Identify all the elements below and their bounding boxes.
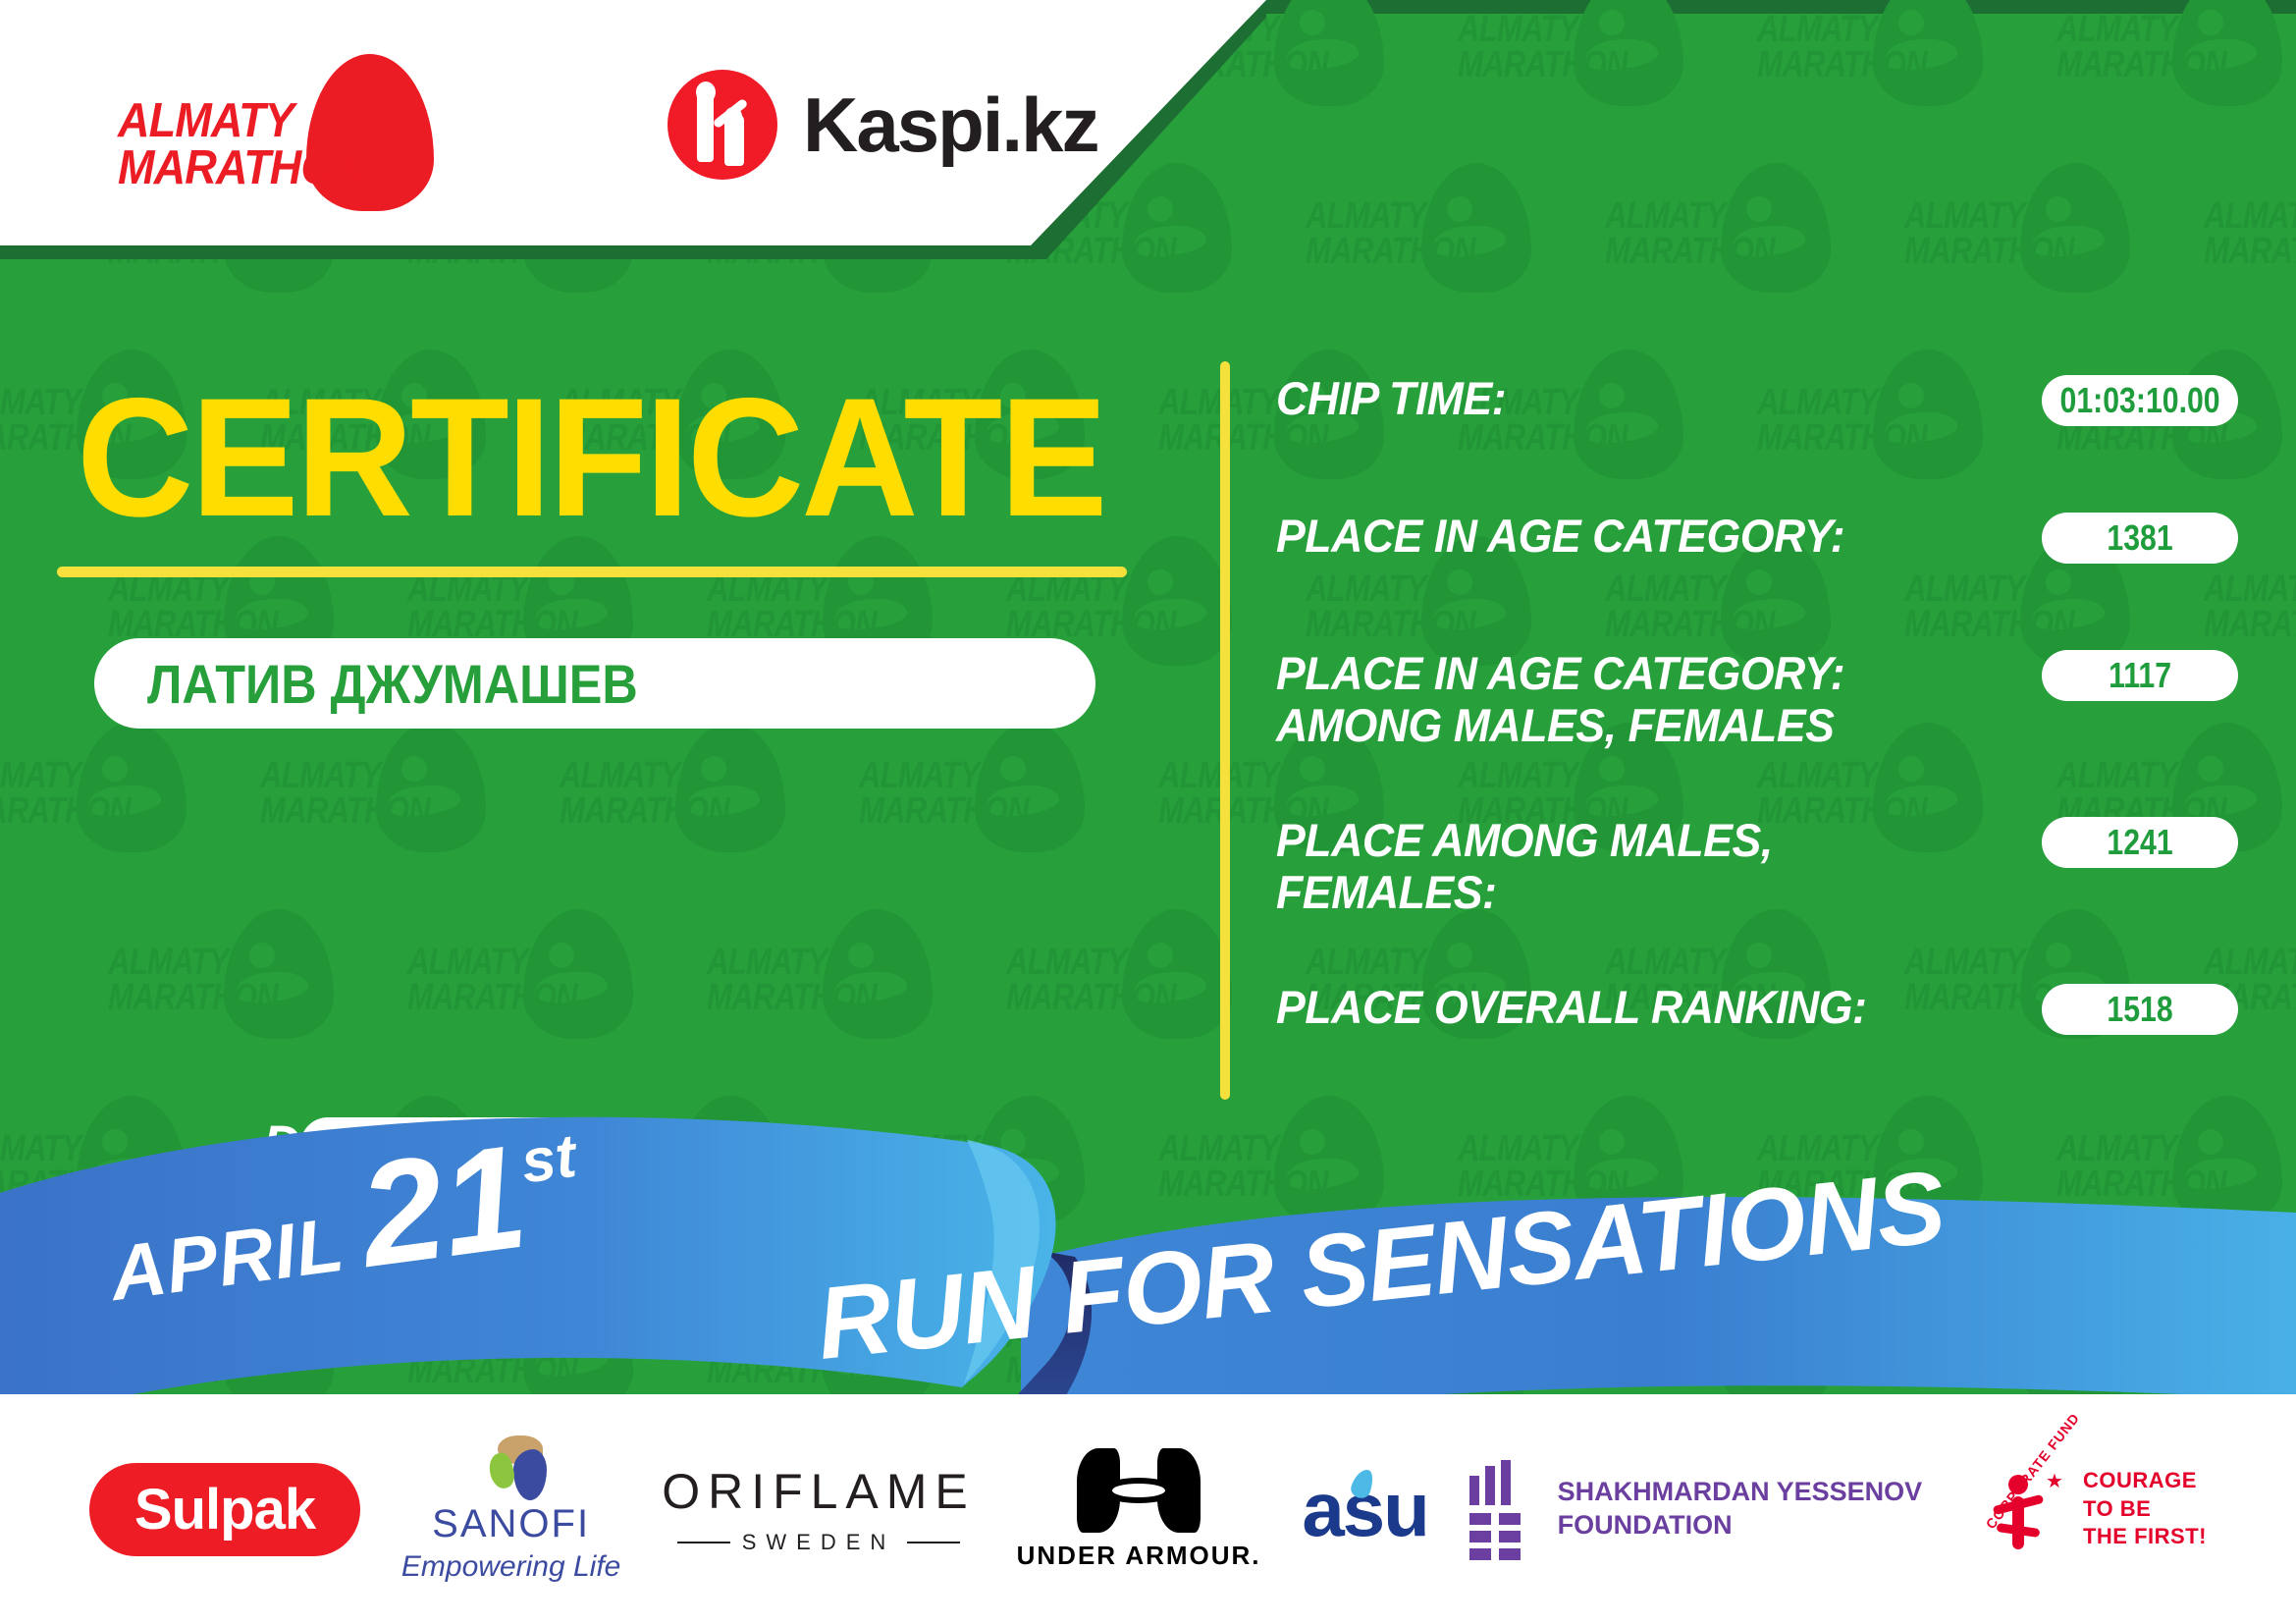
watermark-tile: ALMATYMARATHON: [2056, 344, 2296, 520]
watermark-text: ALMATYMARATHON: [108, 945, 278, 1015]
watermark-text: ALMATYMARATHON: [407, 571, 577, 642]
courage-wordmark: COURAGE TO BE THE FIRST!: [2083, 1467, 2207, 1551]
sponsor-strip: Sulpak SANOFI Empowering Life ORIFLAME S…: [0, 1394, 2296, 1624]
result-row-place-age-category: PLACE IN AGE CATEGORY: 1381: [1276, 511, 2238, 564]
watermark-teardrop-icon: [823, 909, 933, 1039]
watermark-tile: ALMATYMARATHON: [560, 717, 844, 893]
sponsor-oriflame: ORIFLAME SWEDEN: [662, 1440, 976, 1578]
watermark-teardrop-icon: [224, 909, 334, 1039]
kaspi-logo: Kaspi.kz: [667, 61, 1080, 189]
watermark-tile: ALMATYMARATHON: [1306, 157, 1590, 334]
watermark-tile: ALMATYMARATHON: [260, 717, 545, 893]
result-row-place-overall: PLACE OVERALL RANKING: 1518: [1276, 982, 2238, 1035]
watermark-tile: ALMATYMARATHON: [1458, 0, 1742, 147]
watermark-tile: ALMATYMARATHON: [1006, 903, 1291, 1080]
watermark-text: ALMATYMARATHON: [1306, 571, 1475, 642]
almaty-marathon-wordmark: ALMATY MARATHON: [118, 97, 365, 191]
watermark-teardrop-icon: [1122, 909, 1232, 1039]
courage-line-2: TO BE: [2083, 1495, 2207, 1524]
watermark-tile: ALMATYMARATHON: [1158, 344, 1443, 520]
sponsor-under-armour: UNDER ARMOUR.: [1017, 1440, 1261, 1578]
sponsor-yessenov-foundation: SHAKHMARDAN YESSENOV FOUNDATION: [1469, 1440, 1923, 1578]
event-month: APRIL: [105, 1200, 349, 1319]
watermark-text: ALMATYMARATHON: [407, 945, 577, 1015]
result-row-place-among-gender: PLACE AMONG MALES, FEMALES: 1241: [1276, 815, 2238, 918]
result-label: PLACE IN AGE CATEGORY:: [1276, 511, 2003, 563]
watermark-text: ALMATYMARATHON: [1904, 571, 2074, 642]
watermark-text: ALMATYMARATHON: [1904, 198, 2074, 269]
watermark-teardrop-icon: [77, 723, 187, 852]
participant-name-field: ЛАТИВ ДЖУМАШЕВ: [94, 638, 1095, 729]
result-row-chip-time: CHIP TIME: 01:03:10.00: [1276, 373, 2238, 426]
watermark-text: ALMATYMARATHON: [1306, 198, 1475, 269]
asu-wordmark: asu: [1302, 1465, 1427, 1554]
watermark-tile: ALMATYMARATHON: [0, 717, 245, 893]
page-title: CERTIFICATE: [77, 373, 1105, 542]
watermark-teardrop-icon: [2020, 163, 2130, 293]
result-label: PLACE AMONG MALES, FEMALES:: [1276, 815, 2003, 918]
watermark-text: ALMATYMARATHON: [1605, 198, 1775, 269]
watermark-tile: ALMATYMARATHON: [1757, 0, 2042, 147]
participant-name-value: ЛАТИВ ДЖУМАШЕВ: [147, 652, 638, 716]
watermark-teardrop-icon: [2172, 0, 2282, 106]
under-armour-symbol-icon: [1075, 1448, 1202, 1533]
watermark-tile: ALMATYMARATHON: [1904, 157, 2189, 334]
watermark-text: ALMATYMARATHON: [1006, 571, 1176, 642]
watermark-text: ALMATYMARATHON: [1757, 12, 1927, 82]
watermark-tile: ALMATYMARATHON: [108, 903, 393, 1080]
yessenov-symbol-icon: [1469, 1460, 1536, 1558]
watermark-teardrop-icon: [376, 723, 486, 852]
runner-head-icon: [521, 88, 555, 125]
result-label: CHIP TIME:: [1276, 373, 2003, 425]
logo-line-marathon: MARATHON: [118, 144, 365, 191]
watermark-text: ALMATYMARATHON: [1605, 571, 1775, 642]
result-value: 1241: [2107, 822, 2172, 863]
yessenov-line-2: FOUNDATION: [1558, 1509, 1923, 1543]
sanofi-wordmark: SANOFI: [401, 1502, 620, 1546]
watermark-text: ALMATYMARATHON: [707, 571, 877, 642]
sanofi-tagline: Empowering Life: [401, 1550, 620, 1584]
result-value: 01:03:10.00: [2059, 380, 2219, 421]
result-value: 1117: [2109, 655, 2171, 696]
sponsor-courage-fund: CORPORATE FUND ★ COURAGE TO BE THE FIRST…: [1963, 1440, 2207, 1578]
watermark-teardrop-icon: [1721, 163, 1831, 293]
result-value-pill: 01:03:10.00: [2042, 375, 2238, 426]
watermark-text: ALMATYMARATHON: [260, 758, 430, 829]
sponsor-sanofi: SANOFI Empowering Life: [401, 1440, 620, 1578]
event-day-suffix: st: [517, 1121, 580, 1198]
kaspi-adult-body-icon: [697, 85, 714, 162]
watermark-tile: ALMATYMARATHON: [1605, 157, 1890, 334]
courage-line-3: THE FIRST!: [2083, 1523, 2207, 1551]
watermark-text: ALMATYMARATHON: [1006, 945, 1176, 1015]
logo-line-almaty: ALMATY: [118, 97, 365, 144]
kaspi-wordmark: Kaspi.kz: [803, 81, 1097, 170]
oriflame-tagline: SWEDEN: [742, 1530, 896, 1555]
watermark-tile: ALMATYMARATHON: [2204, 157, 2296, 334]
oriflame-rule-right: [907, 1542, 960, 1543]
watermark-tile: ALMATYMARATHON: [407, 903, 692, 1080]
watermark-teardrop-icon: [1122, 536, 1232, 666]
watermark-text: ALMATYMARATHON: [707, 945, 877, 1015]
courage-figure-icon: [1997, 1475, 2040, 1549]
watermark-text: ALMATYMARATHON: [1458, 12, 1628, 82]
result-value: 1381: [2107, 517, 2172, 559]
watermark-text: ALMATYMARATHON: [2056, 12, 2226, 82]
watermark-text: ALMATYMARATHON: [560, 758, 729, 829]
watermark-teardrop-icon: [1274, 0, 1384, 106]
watermark-teardrop-icon: [1873, 0, 1983, 106]
watermark-tile: ALMATYMARATHON: [1458, 344, 1742, 520]
watermark-tile: ALMATYMARATHON: [859, 717, 1144, 893]
watermark-text: ALMATYMARATHON: [0, 758, 131, 829]
event-day: 21: [353, 1129, 533, 1282]
watermark-teardrop-icon: [975, 723, 1085, 852]
courage-star-icon: ★: [2046, 1469, 2063, 1493]
result-value-pill: 1241: [2042, 817, 2238, 868]
certificate-page: ALMATYMARATHONALMATYMARATHONALMATYMARATH…: [0, 0, 2296, 1624]
kaspi-circle-icon: [667, 70, 777, 180]
watermark-text: ALMATYMARATHON: [2204, 198, 2296, 269]
oriflame-rule-left: [677, 1542, 730, 1543]
result-value-pill: 1117: [2042, 650, 2238, 701]
result-label: PLACE IN AGE CATEGORY: AMONG MALES, FEMA…: [1276, 648, 2003, 751]
result-value-pill: 1518: [2042, 984, 2238, 1035]
kaspi-child-body-icon: [724, 113, 744, 166]
under-armour-wordmark: UNDER ARMOUR.: [1017, 1541, 1261, 1571]
title-divider: [57, 567, 1127, 577]
result-row-place-age-category-gender: PLACE IN AGE CATEGORY: AMONG MALES, FEMA…: [1276, 648, 2238, 751]
result-label: PLACE OVERALL RANKING:: [1276, 982, 2003, 1034]
watermark-teardrop-icon: [1421, 163, 1531, 293]
courage-symbol-icon: CORPORATE FUND ★: [1963, 1455, 2071, 1563]
result-value-pill: 1381: [2042, 513, 2238, 564]
watermark-text: ALMATYMARATHON: [859, 758, 1029, 829]
sanofi-symbol-icon: [462, 1435, 561, 1496]
watermark-tile: ALMATYMARATHON: [1757, 344, 2042, 520]
watermark-teardrop-icon: [523, 909, 633, 1039]
watermark-teardrop-icon: [675, 723, 785, 852]
watermark-text: ALMATYMARATHON: [2204, 571, 2296, 642]
yessenov-wordmark: SHAKHMARDAN YESSENOV FOUNDATION: [1558, 1476, 1923, 1543]
yessenov-line-1: SHAKHMARDAN YESSENOV: [1558, 1476, 1923, 1509]
sponsor-asu: asu: [1302, 1440, 1427, 1578]
column-divider: [1220, 361, 1230, 1100]
watermark-tile: ALMATYMARATHON: [707, 903, 991, 1080]
almaty-marathon-logo: ALMATY MARATHON: [118, 54, 442, 191]
result-value: 1518: [2107, 989, 2172, 1030]
watermark-tile: ALMATYMARATHON: [2056, 0, 2296, 147]
watermark-text: ALMATYMARATHON: [108, 571, 278, 642]
courage-line-1: COURAGE: [2083, 1467, 2207, 1495]
oriflame-tagline-row: SWEDEN: [662, 1530, 976, 1555]
oriflame-wordmark: ORIFLAME: [662, 1463, 976, 1520]
sponsor-sulpak: Sulpak: [89, 1440, 360, 1578]
sulpak-wordmark: Sulpak: [89, 1463, 360, 1556]
header-banner: ALMATY MARATHON Kaspi.kz: [0, 0, 1266, 285]
watermark-teardrop-icon: [1574, 0, 1683, 106]
